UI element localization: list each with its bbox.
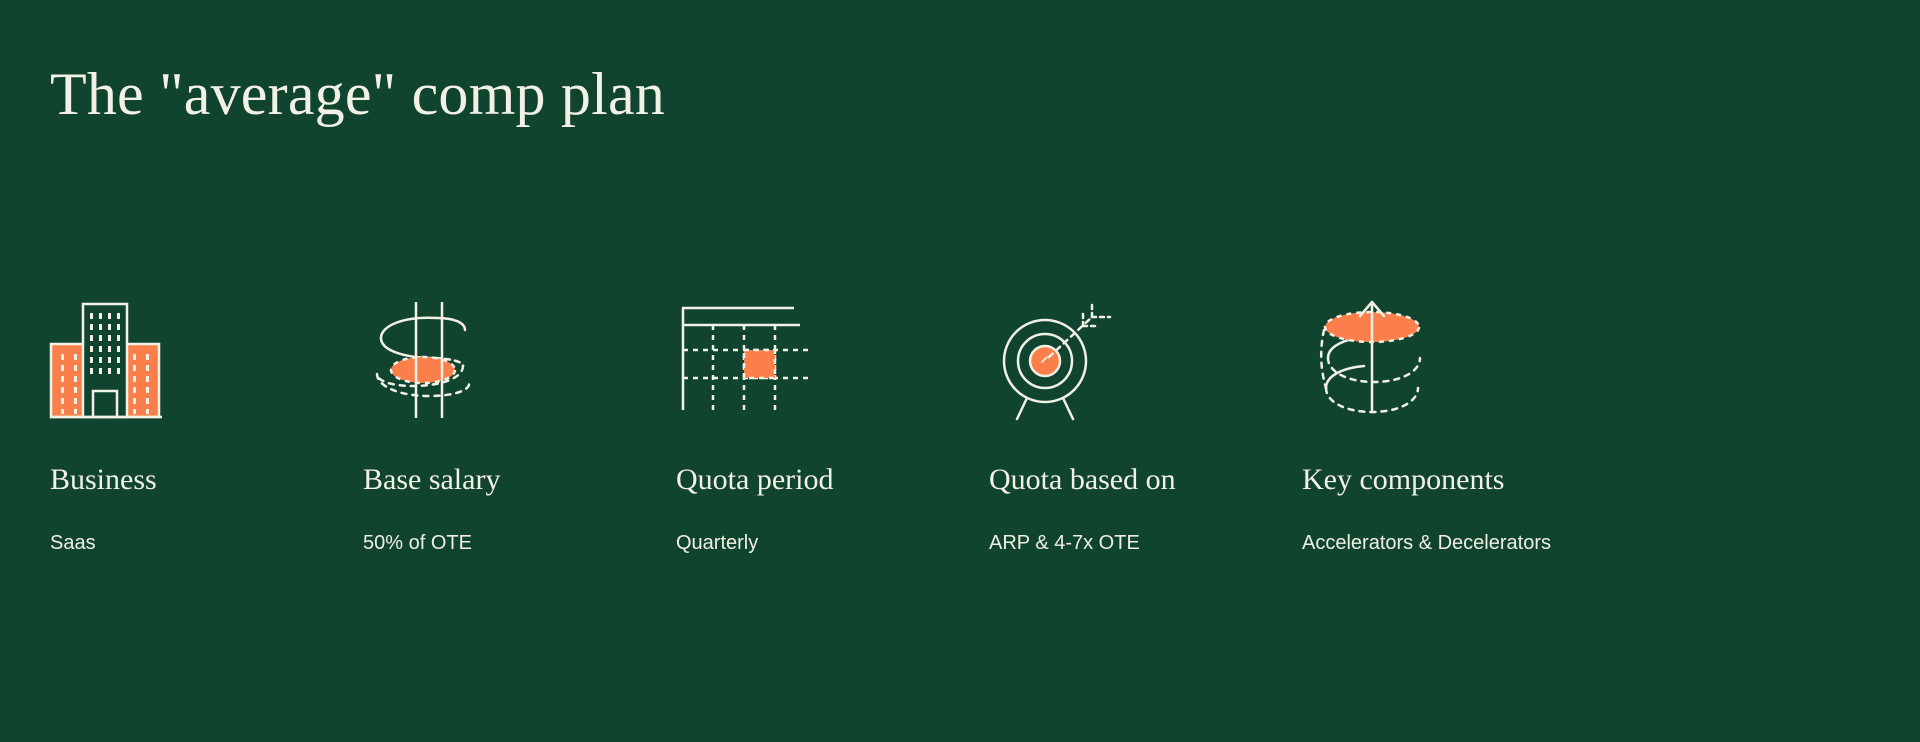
column-subtext: ARP & 4-7x OTE [989,526,1239,561]
column-heading: Quota period [676,462,989,498]
column-quota-based-on: Quota based on ARP & 4-7x OTE [989,300,1302,561]
column-heading: Base salary [363,462,676,498]
dollar-spiral-icon [363,300,503,420]
column-subtext: Quarterly [676,526,926,561]
feature-columns: Business Saas [50,300,1870,561]
column-heading: Business [50,462,363,498]
column-quota-period: Quota period Quarterly [676,300,989,561]
office-building-icon [50,300,190,420]
column-subtext: Saas [50,526,300,561]
column-base-salary: Base salary 50% of OTE [363,300,676,561]
column-subtext: 50% of OTE [363,526,613,561]
page-title: The "average" comp plan [50,60,665,129]
slide-root: The "average" comp plan [0,0,1920,742]
target-arrow-icon [989,300,1129,420]
column-heading: Key components [1302,462,1615,498]
ascending-spiral-icon [1302,300,1442,420]
column-key-components: Key components Accelerators & Decelerato… [1302,300,1615,561]
column-heading: Quota based on [989,462,1302,498]
column-subtext: Accelerators & Decelerators [1302,526,1552,561]
column-business: Business Saas [50,300,363,561]
calendar-grid-icon [676,300,816,420]
